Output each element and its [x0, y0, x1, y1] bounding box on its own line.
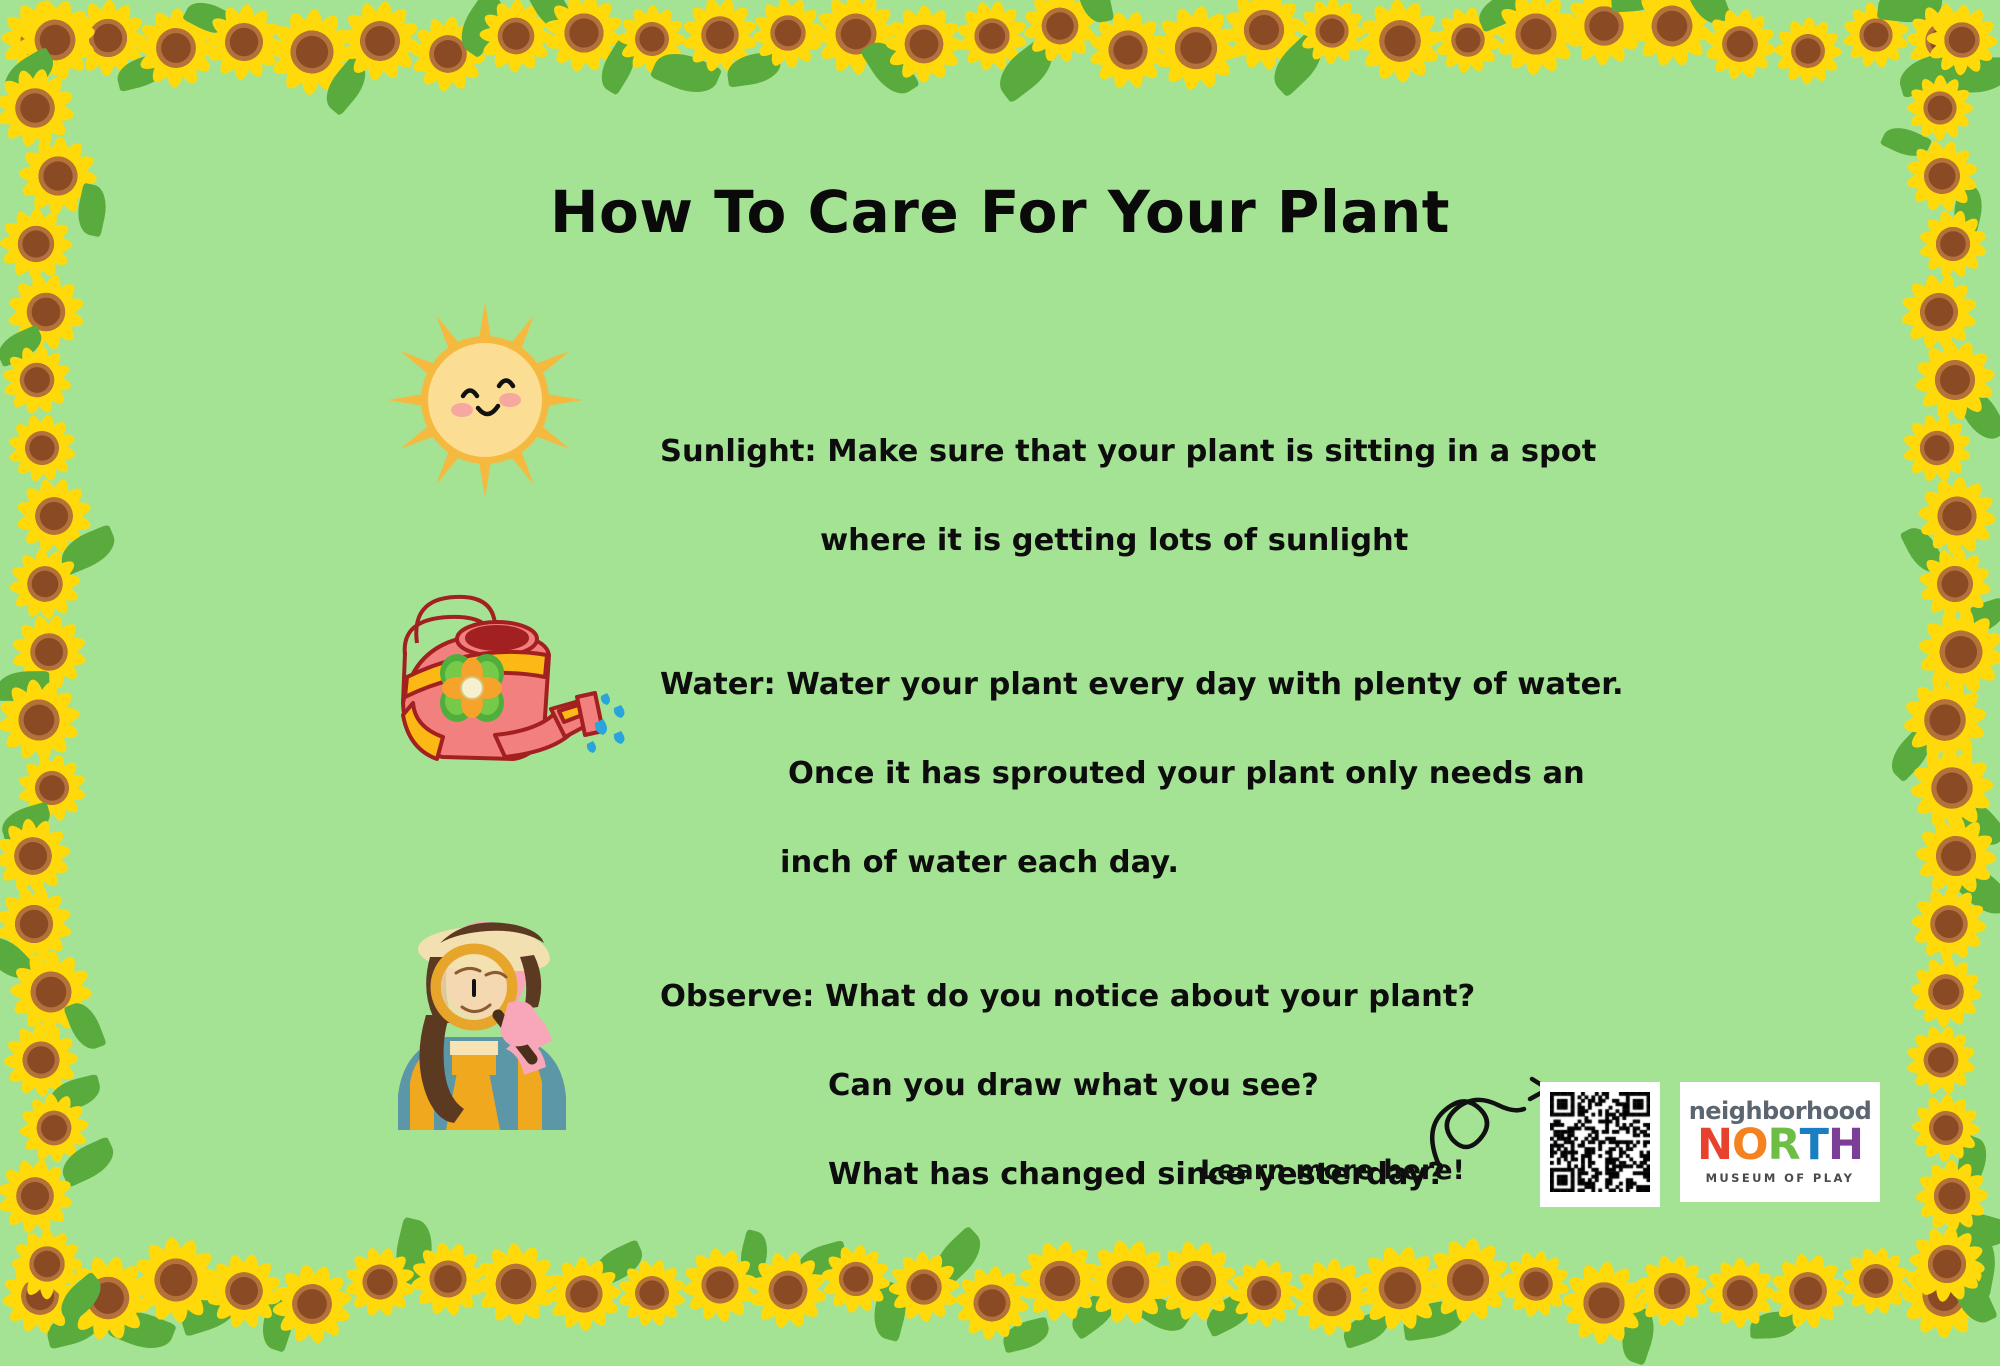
leaf-icon	[0, 801, 54, 842]
leaf-icon	[1949, 856, 2000, 924]
leaf-icon	[0, 671, 49, 701]
section-water: Water: Water your plant every day with p…	[660, 618, 1660, 930]
leaf-icon	[1339, 1309, 1392, 1349]
leaf-icon	[0, 46, 61, 101]
leaf-icon	[1264, 31, 1332, 98]
leaf-icon	[182, 0, 238, 41]
sunlight-line-1: Sunlight: Make sure that your plant is s…	[660, 430, 1660, 475]
leaf-icon	[0, 325, 47, 368]
sunlight-line-2: where it is getting lots of sunlight	[660, 519, 1660, 564]
leaf-icon	[107, 1303, 177, 1357]
logo-letter-n: N	[1697, 1124, 1732, 1167]
leaf-icon	[256, 1293, 300, 1352]
leaf-icon	[1877, 0, 1944, 25]
leaf-icon	[524, 0, 577, 37]
leaf-icon	[0, 929, 37, 987]
leaf-icon	[1948, 1267, 1998, 1329]
qr-code[interactable]	[1540, 1082, 1660, 1207]
leaf-icon	[1950, 1135, 1993, 1190]
leaf-icon	[1610, 0, 1665, 13]
leaf-icon	[990, 36, 1062, 103]
leaf-icon	[1945, 1206, 2000, 1255]
leaf-icon	[1880, 121, 1932, 163]
leaf-icon	[1680, 0, 1732, 30]
leaf-icon	[1894, 50, 1960, 99]
poster-canvas: How To Care For Your Plant Sunlight: Mak…	[0, 0, 2000, 1333]
leaf-icon	[1946, 57, 2000, 92]
logo-subtitle: MUSEUM OF PLAY	[1706, 1171, 1855, 1185]
leaf-icon	[46, 1074, 103, 1114]
leaf-icon	[794, 1240, 850, 1280]
page-title: How To Care For Your Plant	[0, 178, 2000, 246]
section-sunlight: Sunlight: Make sure that your plant is s…	[660, 385, 1660, 608]
leaf-icon	[1473, 0, 1530, 33]
leaf-icon	[1899, 522, 1946, 579]
leaf-icon	[1200, 1289, 1260, 1338]
leaf-icon	[1000, 1316, 1053, 1353]
leaf-icon	[1952, 597, 2000, 639]
water-line-1: Water: Water your plant every day with p…	[660, 663, 1660, 708]
leaf-icon	[53, 1271, 109, 1324]
leaf-icon	[114, 52, 171, 92]
leaf-icon	[63, 998, 107, 1054]
water-line-3: inch of water each day.	[660, 841, 1660, 886]
smiling-sun-icon	[370, 300, 600, 500]
leaf-icon	[1750, 1311, 1798, 1339]
observe-line-1: Observe: What do you notice about your p…	[660, 975, 1660, 1020]
leaf-icon	[650, 44, 723, 102]
leaf-icon	[1954, 382, 2000, 447]
leaf-icon	[389, 1217, 438, 1288]
sunflower-border-top	[0, 0, 2000, 120]
leaf-icon	[1955, 1232, 2000, 1299]
watering-can-icon	[345, 585, 635, 775]
leaf-icon	[860, 33, 920, 102]
leaf-icon	[725, 50, 783, 87]
logo-letter-r: R	[1768, 1124, 1800, 1167]
leaf-icon	[1883, 725, 1939, 782]
leaf-icon	[317, 56, 375, 116]
logo-letter-h: H	[1828, 1124, 1863, 1167]
leaf-icon	[1946, 789, 2000, 854]
leaf-icon	[55, 524, 121, 576]
leaf-icon	[1615, 1305, 1661, 1366]
logo-letter-o: O	[1732, 1124, 1768, 1167]
logo-letter-t: T	[1800, 1124, 1828, 1167]
curly-arrow-icon	[1420, 1075, 1550, 1169]
leaf-icon	[176, 1287, 243, 1337]
leaf-icon	[593, 38, 643, 95]
water-line-2: Once it has sprouted your plant only nee…	[660, 752, 1660, 797]
leaf-icon	[451, 0, 513, 58]
neighborhood-north-logo[interactable]: neighborhood N O R T H MUSEUM OF PLAY	[1680, 1082, 1880, 1202]
leaf-icon	[1401, 1298, 1467, 1341]
leaf-icon	[56, 1136, 120, 1188]
girl-with-magnifier-icon	[370, 895, 590, 1130]
leaf-icon	[44, 1306, 105, 1349]
leaf-icon	[1074, 0, 1115, 26]
logo-main-word: N O R T H	[1697, 1124, 1863, 1167]
leaf-icon	[587, 1239, 648, 1289]
leaf-icon	[1133, 1288, 1191, 1340]
